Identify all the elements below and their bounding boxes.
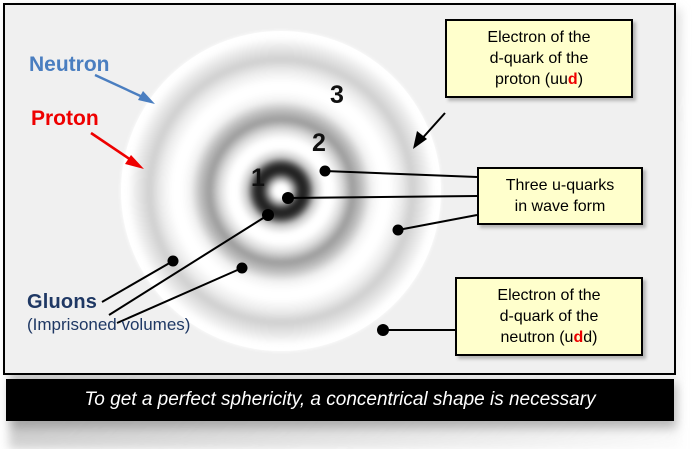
caption-text: To get a perfect sphericity, a concentri… [84,389,595,411]
u-quark-leader-lower [393,215,478,236]
callout-u-quarks-line2: in wave form [487,196,633,217]
caption-bar: To get a perfect sphericity, a concentri… [6,379,674,421]
gluons-sublabel-text: (Imprisoned volumes) [27,315,190,334]
neutron-label: Neutron [29,53,110,77]
neutron-arrow [95,75,155,104]
callout-neutron-electron-d-quark: d [573,329,583,346]
neutron-electron-leader [377,324,455,336]
diagram-stage: Neutron Proton Gluons (Imprisoned volume… [0,0,697,449]
callout-neutron-electron: Electron of the d-quark of the neutron (… [455,277,643,356]
callout-neutron-electron-line1: Electron of the [465,285,633,306]
u-quark-leader-middle [282,192,477,204]
diagram-panel: Neutron Proton Gluons (Imprisoned volume… [3,3,676,375]
proton-electron-leader [413,113,445,149]
proton-label: Proton [31,107,99,131]
callout-proton-electron-line1: Electron of the [455,27,623,48]
callout-proton-electron-line3-post: ) [578,71,583,88]
callout-neutron-electron-line3: neutron (udd) [465,327,633,348]
callout-proton-electron-d-quark: d [568,71,578,88]
callout-u-quarks-line1: Three u-quarks [487,175,633,196]
callout-proton-electron-line2: d-quark of the [455,48,623,69]
gluon-leader-2 [109,209,274,315]
gluons-sublabel: (Imprisoned volumes) [27,315,190,334]
ring-number-3: 3 [330,81,344,110]
callout-proton-electron-line3: proton (uud) [455,69,623,90]
callout-proton-electron: Electron of the d-quark of the proton (u… [445,19,633,98]
gluon-leader-3 [117,263,248,324]
u-quark-leader-upper [320,166,478,178]
callout-proton-electron-line3-pre: proton (uu [495,71,568,88]
ring-number-2: 2 [312,129,326,158]
proton-arrow [91,133,144,169]
gluons-label: Gluons [27,291,97,314]
callout-neutron-electron-line3-pre: neutron (u [501,329,574,346]
ring-number-1: 1 [251,164,265,193]
callout-u-quarks: Three u-quarks in wave form [477,167,643,225]
callout-neutron-electron-line3-post: d) [583,329,597,346]
callout-neutron-electron-line2: d-quark of the [465,306,633,327]
